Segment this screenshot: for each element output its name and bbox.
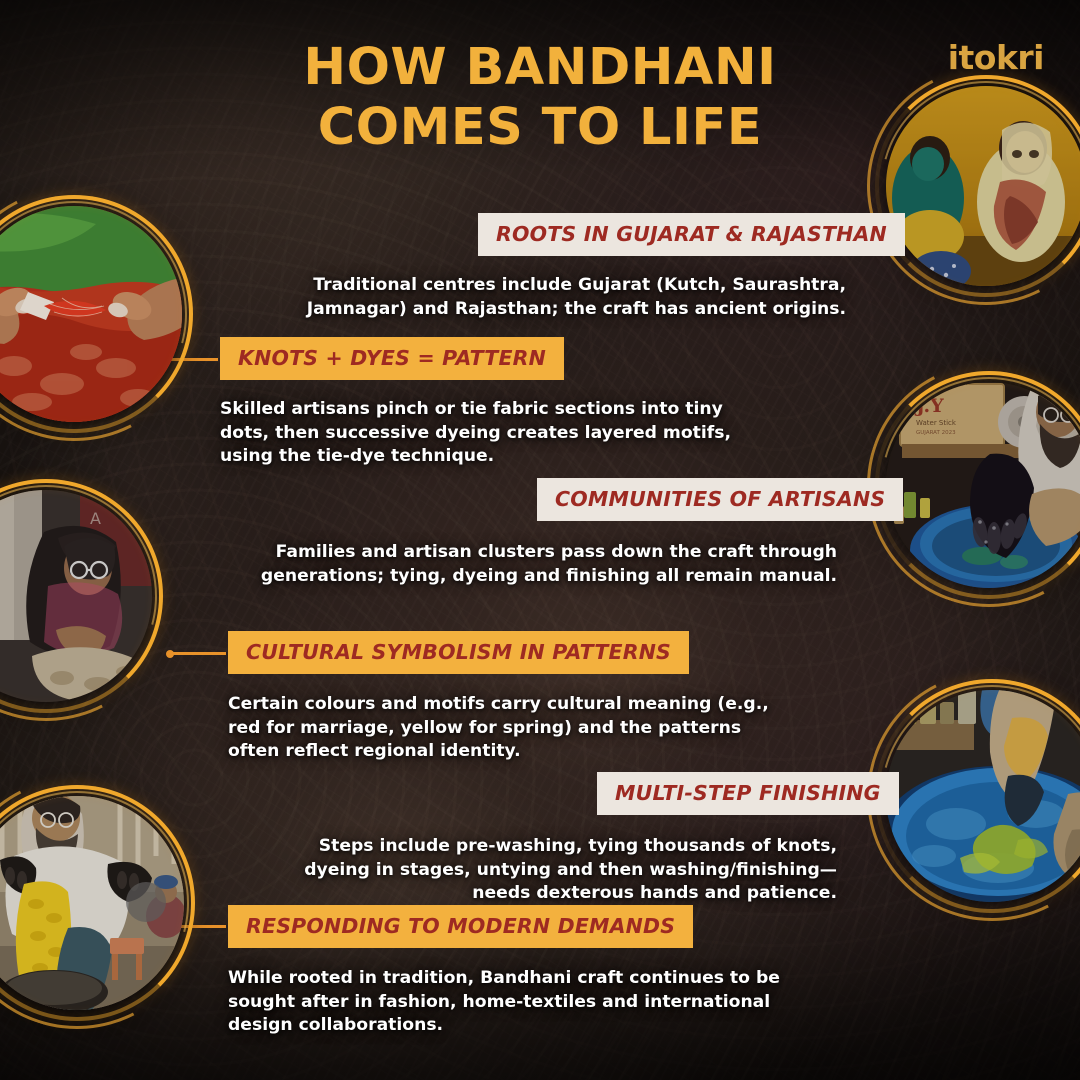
step-responding-to-modern-demands: RESPONDING TO MODERN DEMANDS While roote… — [228, 905, 788, 1038]
step-cultural-symbolism-in-patterns: CULTURAL SYMBOLISM IN PATTERNS Certain c… — [228, 631, 788, 764]
photo-medallion-dyer-tub: J.Y Water Stick GUJARAT 2023 — [886, 382, 1080, 588]
step-body-text: Steps include pre-washing, tying thousan… — [267, 835, 837, 906]
step-communities-of-artisans: COMMUNITIES OF ARTISANS Families and art… — [537, 478, 837, 588]
page-title-line-2: COMES TO LIFE — [190, 98, 890, 158]
connector-line-step-4 — [168, 652, 226, 655]
photo-medallion-tying-women — [886, 86, 1080, 286]
step-body-text: Traditional centres include Gujarat (Kut… — [278, 274, 846, 321]
photo-medallion-blue-vat — [886, 690, 1080, 902]
photo-medallion-women-group: A — [0, 490, 152, 702]
photo-medallion-yellow-lift — [0, 796, 184, 1010]
photo-medallion-red-hands — [0, 206, 182, 422]
brand-logo: itokri — [948, 38, 1044, 77]
step-knots-dyes-pattern: KNOTS + DYES = PATTERN Skilled artisans … — [220, 337, 780, 469]
step-heading: CULTURAL SYMBOLISM IN PATTERNS — [228, 631, 689, 674]
step-heading: MULTI-STEP FINISHING — [597, 772, 899, 815]
infographic-poster: itokri HOW BANDHANI COMES TO LIFE — [0, 0, 1080, 1080]
step-body-text: While rooted in tradition, Bandhani craf… — [228, 967, 783, 1038]
page-title: HOW BANDHANI COMES TO LIFE — [190, 38, 890, 158]
step-heading: KNOTS + DYES = PATTERN — [220, 337, 564, 380]
step-heading: COMMUNITIES OF ARTISANS — [537, 478, 903, 521]
step-body-text: Skilled artisans pinch or tie fabric sec… — [220, 398, 760, 469]
step-body-text: Certain colours and motifs carry cultura… — [228, 693, 773, 764]
step-multi-step-finishing: MULTI-STEP FINISHING Steps include pre-w… — [597, 772, 837, 906]
step-roots-in-gujarat-rajasthan: ROOTS IN GUJARAT & RAJASTHAN Traditional… — [478, 213, 846, 321]
step-heading: ROOTS IN GUJARAT & RAJASTHAN — [478, 213, 905, 256]
step-body-text: Families and artisan clusters pass down … — [237, 541, 837, 588]
page-title-line-1: HOW BANDHANI — [190, 38, 890, 98]
step-heading: RESPONDING TO MODERN DEMANDS — [228, 905, 693, 948]
